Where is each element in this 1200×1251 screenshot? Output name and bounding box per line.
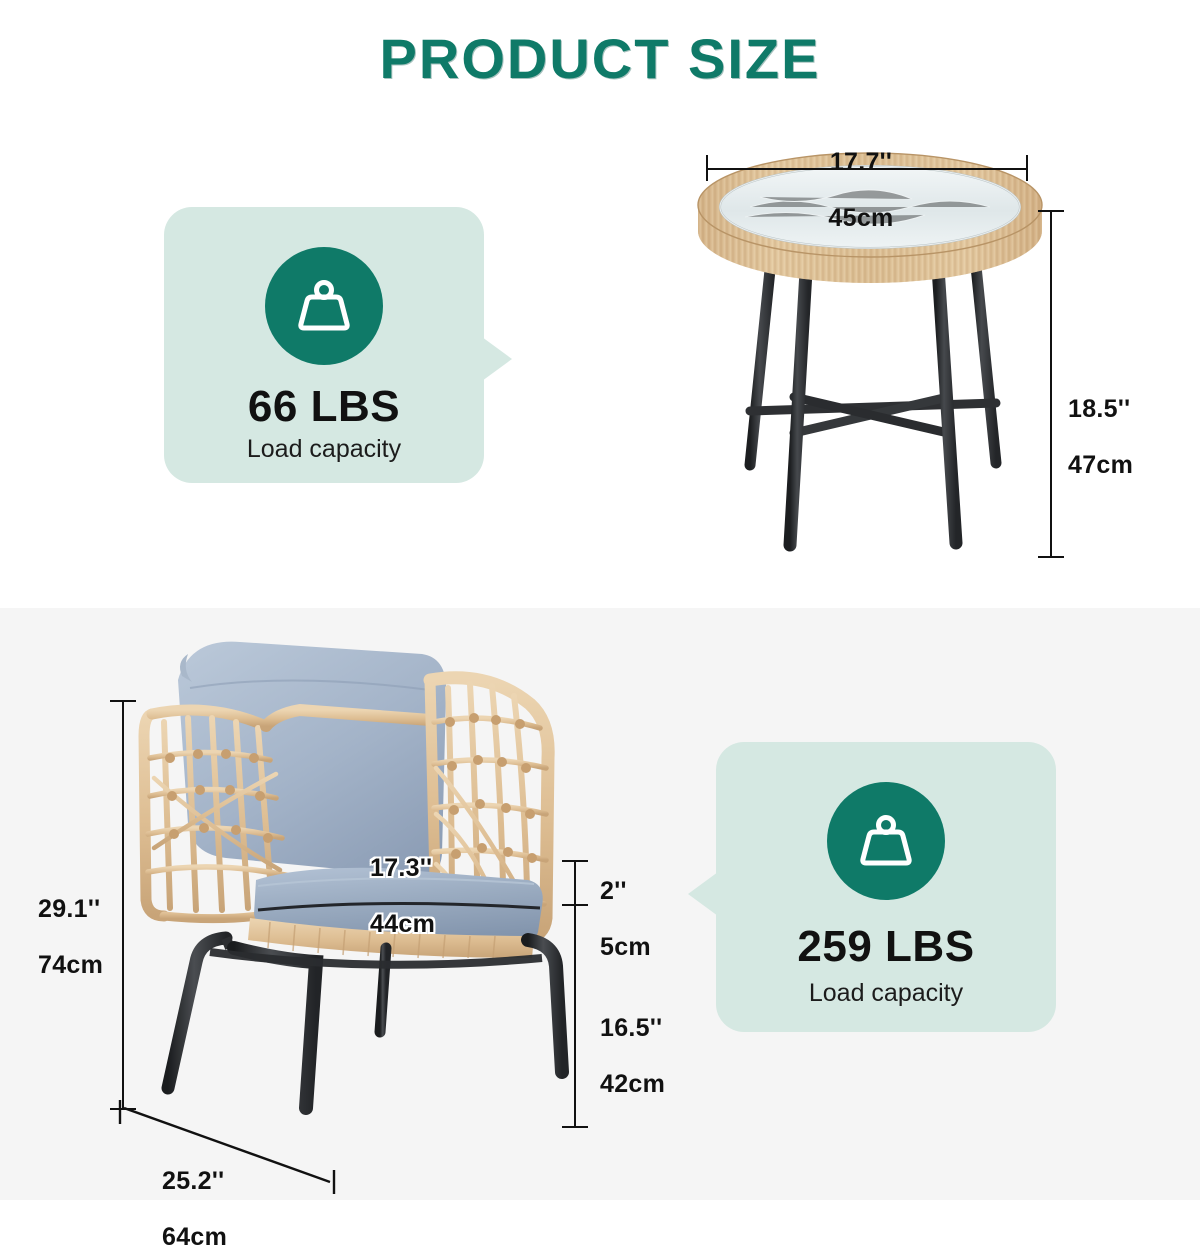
table-width-cm: 45cm <box>828 204 893 232</box>
callout-chair-label: Load capacity <box>716 979 1056 1008</box>
chair-height-inches: 29.1'' <box>38 895 100 923</box>
seat-depth-inches: 17.3'' <box>370 854 432 882</box>
chair-height-rule <box>122 700 124 1110</box>
callout-tail-icon <box>688 872 718 916</box>
cushion-thickness-dimension: 2'' 5cm <box>600 849 651 961</box>
cushion-thickness-cm: 5cm <box>600 933 651 961</box>
weight-icon <box>265 247 383 365</box>
table-width-cap-right <box>1026 155 1028 181</box>
chair-width-rule <box>118 1098 348 1190</box>
cushion-thickness-rule <box>574 860 576 906</box>
seat-height-rule <box>574 906 576 1128</box>
weight-icon <box>827 782 945 900</box>
cushion-thickness-cap-top <box>562 860 588 862</box>
callout-table-load-capacity: 66 LBS Load capacity <box>164 207 484 483</box>
arm-chair-illustration <box>130 618 600 1128</box>
callout-table-label: Load capacity <box>164 435 484 464</box>
table-height-inches: 18.5'' <box>1068 395 1130 423</box>
table-width-rule <box>706 168 1028 170</box>
cushion-thickness-inches: 2'' <box>600 877 627 905</box>
product-size-infographic: PRODUCT SIZE <box>0 0 1200 1200</box>
seat-height-cm: 42cm <box>600 1070 665 1098</box>
page-title: PRODUCT SIZE <box>0 26 1200 91</box>
seat-depth-cm: 44cm <box>370 910 435 938</box>
table-width-inches: 17.7'' <box>830 148 892 176</box>
callout-chair-load-capacity: 259 LBS Load capacity <box>716 742 1056 1032</box>
table-width-cap-left <box>706 155 708 181</box>
chair-width-cm: 64cm <box>162 1223 227 1251</box>
callout-tail-icon <box>482 337 512 381</box>
chair-height-dimension: 29.1'' 74cm <box>38 867 103 979</box>
table-height-cap-top <box>1038 210 1064 212</box>
table-width-dimension: 17.7'' 45cm <box>766 120 956 232</box>
callout-table-value: 66 LBS <box>164 382 484 432</box>
table-height-cap-bottom <box>1038 556 1064 558</box>
table-height-rule <box>1050 210 1052 558</box>
seat-height-cap-bottom <box>562 1126 588 1128</box>
seat-depth-dimension: 17.3'' 44cm <box>370 826 435 938</box>
chair-width-inches: 25.2'' <box>162 1167 224 1195</box>
chair-width-dimension: 25.2'' 64cm <box>162 1139 227 1251</box>
chair-height-cap-top <box>110 700 136 702</box>
seat-height-inches: 16.5'' <box>600 1014 662 1042</box>
chair-height-cm: 74cm <box>38 951 103 979</box>
seat-height-dimension: 16.5'' 42cm <box>600 986 665 1098</box>
table-height-dimension: 18.5'' 47cm <box>1068 367 1133 479</box>
table-height-cm: 47cm <box>1068 451 1133 479</box>
callout-chair-value: 259 LBS <box>716 922 1056 972</box>
